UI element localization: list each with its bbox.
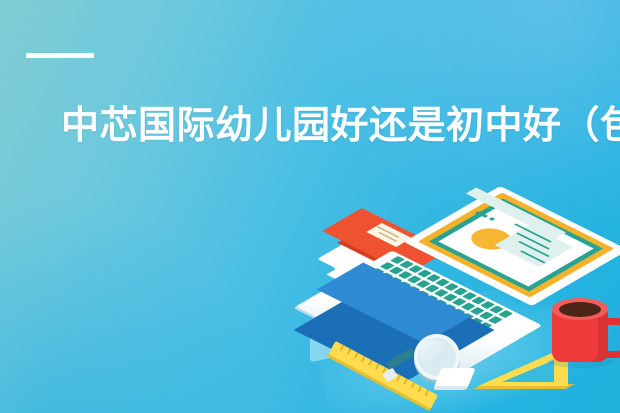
ruler-tick bbox=[361, 356, 365, 362]
ruler-tick bbox=[425, 390, 429, 396]
accent-rule bbox=[26, 53, 94, 58]
magnifier-lens bbox=[420, 340, 446, 366]
background-tint-bottom-left bbox=[0, 193, 280, 413]
ruler-tick bbox=[354, 352, 358, 358]
education-illustration bbox=[330, 188, 620, 413]
eraser bbox=[434, 368, 475, 386]
banner-container: 中芯国际幼儿园好还是初中好（包玉 bbox=[0, 0, 620, 413]
ruler-tick bbox=[368, 360, 372, 366]
ruler-tick bbox=[410, 382, 414, 388]
ruler-tick bbox=[340, 345, 344, 351]
keyboard-key bbox=[488, 316, 503, 324]
ruler-tick bbox=[375, 363, 379, 369]
ruler-tick bbox=[403, 378, 407, 384]
banner-title: 中芯国际幼儿园好还是初中好（包玉 bbox=[61, 104, 620, 148]
ruler-tick bbox=[347, 348, 351, 354]
coffee-surface bbox=[559, 302, 601, 317]
ruler-tick bbox=[417, 386, 421, 392]
keyboard-key bbox=[498, 310, 513, 318]
triangle-ruler-cutout bbox=[502, 360, 554, 382]
